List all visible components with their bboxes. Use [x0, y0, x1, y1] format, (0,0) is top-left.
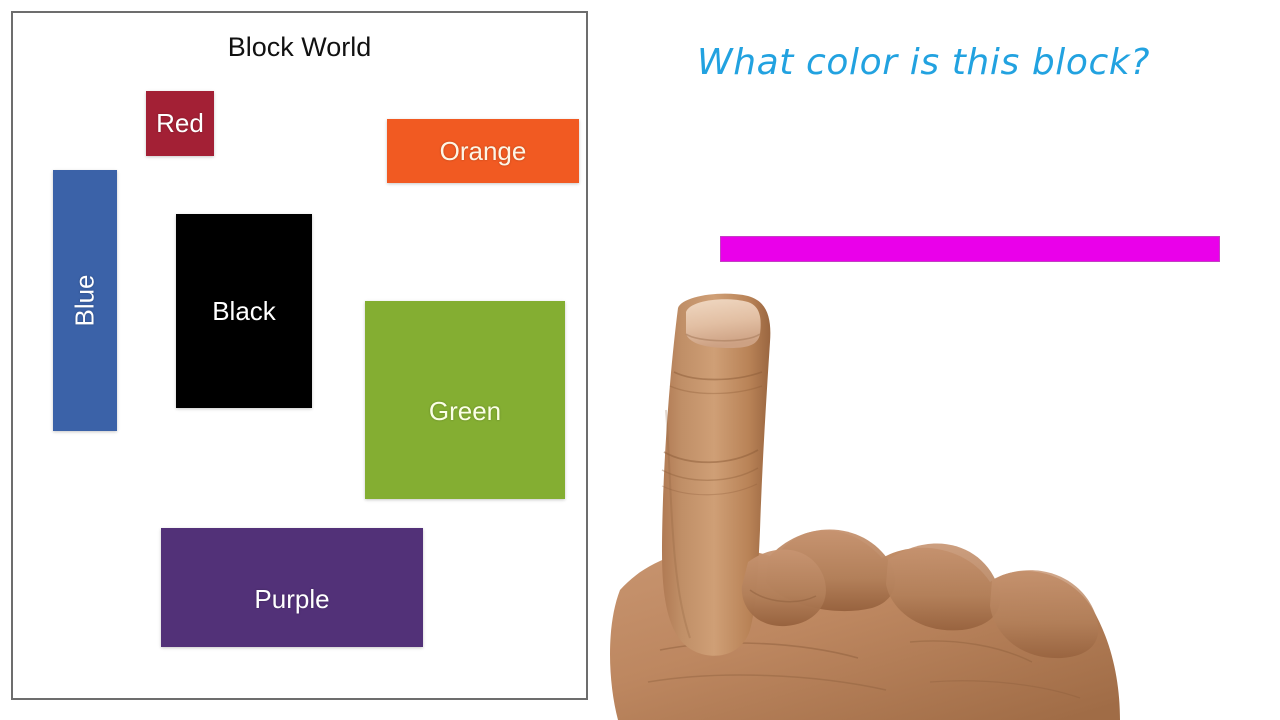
block-green-label: Green	[429, 396, 501, 427]
block-green[interactable]: Green	[365, 301, 565, 499]
block-orange-label: Orange	[440, 136, 527, 167]
block-world-panel: Block World Red Orange Blue Black Green …	[11, 11, 588, 700]
target-magenta-block[interactable]	[720, 236, 1220, 262]
page-title: Block World	[13, 32, 586, 63]
block-red-label: Red	[156, 108, 204, 139]
thumb	[742, 549, 826, 626]
block-purple-label: Purple	[254, 584, 329, 615]
block-purple[interactable]: Purple	[161, 528, 423, 647]
hand-palm	[610, 530, 1120, 720]
block-red[interactable]: Red	[146, 91, 214, 156]
screenshot-canvas: Block World Red Orange Blue Black Green …	[0, 0, 1280, 720]
question-prompt: What color is this block?	[697, 42, 1257, 83]
pointing-hand-icon	[600, 290, 1120, 720]
block-blue[interactable]: Blue	[53, 170, 117, 431]
block-black-label: Black	[212, 296, 276, 327]
index-finger	[662, 294, 770, 656]
block-black[interactable]: Black	[176, 214, 312, 408]
block-orange[interactable]: Orange	[387, 119, 579, 183]
block-blue-label: Blue	[69, 274, 100, 326]
